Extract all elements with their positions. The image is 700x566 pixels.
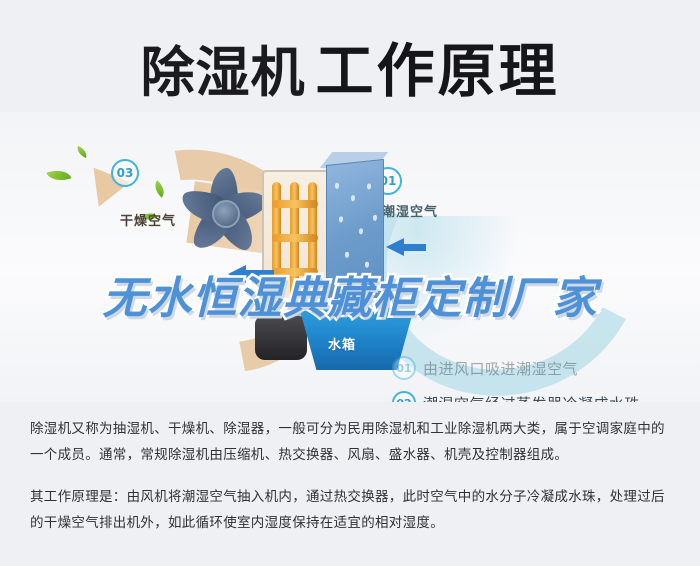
fan-hub <box>212 200 240 228</box>
legend-badge: 01 <box>392 356 416 380</box>
air-outlet-arrow-shaft <box>244 270 274 278</box>
refrigerant-pipe <box>272 200 318 208</box>
page-title: 除湿机工作原理 <box>0 24 700 108</box>
water-droplet-icon <box>339 216 343 222</box>
legend-label: 潮湿空气经过蒸发器冷凝成水珠 <box>423 393 640 403</box>
description-text: 除湿机又称为抽湿机、干燥机、除湿器，一般可分为民用除湿机和工业除湿机两大类，属于… <box>30 416 672 552</box>
legend-list: 01 由进风口吸进潮湿空气 02 潮湿空气经过蒸发器冷凝成水珠 03 从上部出风… <box>392 356 692 402</box>
water-droplet-icon <box>367 183 371 189</box>
water-droplet-icon <box>345 252 349 258</box>
water-tank-label: 水箱 <box>328 334 356 353</box>
water-droplet-icon <box>351 195 355 201</box>
water-droplet-icon <box>359 228 363 234</box>
refrigerant-pipe <box>272 268 318 276</box>
water-droplet-icon <box>335 183 339 189</box>
page-title-part1: 除湿机 <box>140 41 305 104</box>
diagram-badge-03: 03 <box>111 159 139 187</box>
legend-item: 01 由进风口吸进潮湿空气 <box>392 356 692 380</box>
page-root: 除湿机工作原理 03 02 01 干燥空气 潮湿空气 热交换器 <box>0 0 700 566</box>
legend-label: 由进风口吸进潮湿空气 <box>423 358 578 379</box>
humid-air-label: 潮湿空气 <box>382 201 438 220</box>
air-intake-arrow-shaft <box>402 244 426 251</box>
water-droplet-icon <box>337 284 341 290</box>
page-title-part2: 工作原理 <box>315 37 559 105</box>
leaf-icon <box>47 166 72 185</box>
refrigerant-pipe <box>272 234 318 242</box>
leaf-icon <box>75 146 89 158</box>
description-paragraph-2: 其工作原理是：由风机将潮湿空气抽入机内，通过热交换器，此时空气中的水分子冷凝成水… <box>30 484 672 536</box>
description-paragraph-1: 除湿机又称为抽湿机、干燥机、除湿器，一般可分为民用除湿机和工业除湿机两大类，属于… <box>30 416 672 468</box>
compressor-unit <box>255 316 307 360</box>
dry-air-label: 干燥空气 <box>120 210 176 229</box>
legend-item: 02 潮湿空气经过蒸发器冷凝成水珠 <box>392 391 692 402</box>
fan-icon <box>176 164 272 260</box>
water-droplet-icon <box>373 215 377 221</box>
water-droplet-icon <box>365 262 369 268</box>
legend-badge: 02 <box>392 391 416 402</box>
working-principle-diagram: 03 02 01 干燥空气 潮湿空气 热交换器 <box>0 112 700 402</box>
